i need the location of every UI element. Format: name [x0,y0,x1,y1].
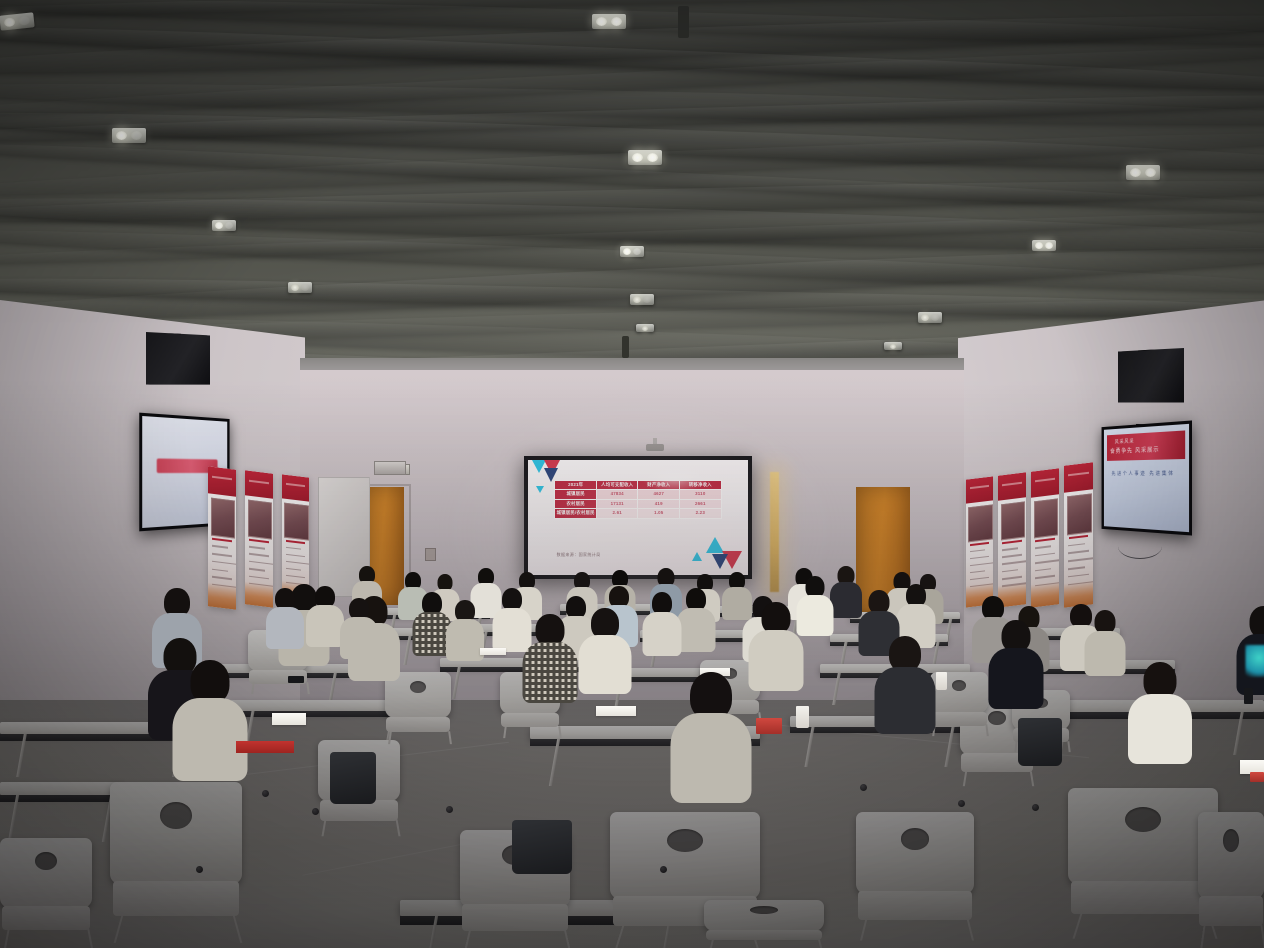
poster-image [968,505,992,543]
chair-handle-hole [901,828,929,849]
audience-member [340,598,378,662]
mobile-phone [1244,688,1253,704]
left-wall-speaker [146,329,210,392]
right-poster-1 [966,476,993,607]
chair-back [856,812,974,894]
triangle-cyan-small-icon [536,486,544,493]
ac-vent [374,461,406,475]
person-torso [446,619,484,661]
table-row: 农村居民 17131 419 2661 [555,499,721,509]
poster-text-line [249,553,269,557]
table-col-1: 人均可支配收入 [596,480,638,490]
chair-seat [1071,881,1215,914]
poster-divider [1069,535,1089,539]
ceiling-spotlight [918,312,942,323]
poster-text-line [1068,543,1085,547]
chair-seat [386,717,449,733]
audience-member [670,672,751,810]
ceiling-spotlight [288,282,312,293]
poster-footer-gradient [1031,581,1059,608]
poster-text-line [212,545,228,549]
slide-content: 2021年 人均可支配收入 财产净收入 转移净收入 城镇居民 47834 462… [528,460,748,575]
table-col-0: 2021年 [555,480,597,490]
table-row: 城镇居民 47834 4627 3110 [555,490,721,500]
poster-text-line [286,561,309,565]
projection-screen[interactable]: 2021年 人均可支配收入 财产净收入 转移净收入 城镇居民 47834 462… [524,456,752,579]
right-tv-headline-small: 风采风采 [1115,438,1135,446]
caster-wheel [262,790,269,797]
projector-mount [646,444,664,451]
poster-text-line [1035,552,1055,556]
poster-text-line [1002,547,1018,551]
chair-handle-hole [988,711,1006,725]
chair-seat [2,906,90,930]
chair[interactable] [1198,812,1264,948]
chair-back [610,812,760,899]
left-poster-1 [208,466,236,609]
poster-divider [249,539,268,543]
chair-seat [462,904,568,930]
chair-legs [933,725,990,736]
poster-header-band [966,476,993,504]
ceiling-spotlight [112,128,146,143]
chair-back [704,900,824,931]
person-torso [642,612,681,656]
poster-text-line [970,570,986,574]
poster-image [1034,498,1059,538]
poster-text-line [970,562,993,566]
row-value: 2.23 [680,509,722,519]
table-header-row: 2021年 人均可支配收入 财产净收入 转移净收入 [555,480,721,490]
row-value: 2661 [680,499,722,509]
poster-image [284,503,308,541]
chair-handle-hole [1223,829,1239,852]
chair-handle-hole [952,680,966,691]
poster-text-line [249,546,265,550]
table-row: 城镇居民/农村居民 2.61 1.05 2.23 [555,509,721,519]
ceiling-spotlight [884,342,902,350]
row-value: 47834 [596,490,638,500]
triangle-navy-icon [712,554,728,569]
chair-legs [251,683,309,694]
paper-sheet [480,648,506,655]
poster-text-line [1002,561,1026,566]
wall-outlet[interactable] [425,548,436,561]
row-label: 农村居民 [555,499,597,509]
table-top [0,782,120,795]
poster-text-line [1002,569,1018,573]
right-tv-headline-large: 奋勇争先 风采展示 [1110,445,1159,456]
ceiling-spotlight [620,246,644,257]
chair-legs [3,929,92,948]
poster-header-band [208,466,236,496]
chair-handle-hole [410,681,426,693]
poster-text-line [249,568,265,572]
poster-text-line [1035,575,1055,579]
row-value: 419 [638,499,680,509]
right-wall-speaker [1118,345,1184,410]
audience-member [578,608,631,698]
chair[interactable] [0,838,92,948]
poster-text-line [970,556,989,560]
poster-text-line [1035,545,1051,549]
chair-legs [321,819,400,836]
poster-divider [970,542,988,546]
drink-cup [936,672,947,690]
chair-legs [388,731,452,744]
chair-seat [858,891,971,919]
poster-text-line [1035,559,1059,564]
poster-header-band [1031,468,1059,497]
right-poster-2 [998,472,1026,607]
caster-wheel [958,800,965,807]
drink-cup [796,706,809,728]
slide-source-note: 数据来源：国家统计局 [557,552,601,558]
row-label: 城镇居民/农村居民 [555,509,597,519]
table-col-3: 转移净收入 [680,480,722,490]
poster-text-line [1068,566,1085,570]
ceiling-spotlight [1032,240,1056,251]
chair-legs [503,726,561,738]
poster-divider [1002,540,1021,544]
chair-back [1198,812,1264,899]
row-value: 2.61 [596,509,638,519]
ceiling-spotlight [630,294,654,305]
person-torso [1128,694,1192,764]
poster-text-line [249,560,273,565]
person-torso [522,642,577,703]
person-torso [1084,631,1125,676]
chair-back [1068,788,1218,884]
mobile-phone [288,676,304,683]
row-label: 城镇居民 [555,490,597,500]
poster-text-line [1002,554,1022,558]
poster-header-band [245,470,273,499]
audience-member [676,588,715,655]
desk-item [1250,772,1264,782]
right-tv-subline: 先进个人事迹 先进集体 [1112,469,1175,476]
person-torso [266,607,304,649]
person-torso [578,635,631,694]
table-edge [230,711,410,717]
caster-wheel [446,806,453,813]
audience-member [172,660,247,787]
poster-footer-gradient [208,582,236,609]
poster-text-line [1035,568,1051,572]
row-value: 4627 [638,490,680,500]
audience-member [988,620,1043,713]
poster-text-line [970,549,986,553]
poster-header-band [998,472,1026,501]
chair-legs [1072,912,1217,939]
ceiling-spotlight [636,324,654,332]
chair-handle-hole [35,852,57,870]
poster-image [1067,494,1093,536]
audience-member [642,592,681,659]
person-torso [1236,634,1264,695]
person-torso [670,713,751,803]
chair[interactable] [704,900,824,948]
caster-wheel [860,784,867,791]
poster-text-line [212,576,232,580]
poster-divider [1035,538,1054,542]
audience-member [874,636,935,739]
poster-text-line [212,553,232,557]
poster-text-line [212,561,236,566]
poster-divider [286,540,304,544]
paper-sheet [596,706,636,716]
audience-member [1236,606,1264,699]
poster-text-line [286,575,305,579]
right-poster-4 [1064,462,1093,608]
chair[interactable] [1068,788,1218,938]
ceiling-spotlight [212,220,236,231]
table-col-2: 财产净收入 [638,480,680,490]
person-torso [676,608,715,652]
chair-handle-hole [750,906,779,914]
row-value: 1.05 [638,509,680,519]
ceiling-spotlight [628,150,662,165]
poster-header-band [1064,462,1093,493]
row-value: 17131 [596,499,638,509]
audience-member [266,588,304,652]
audience-member [446,600,484,664]
poster-image [1001,501,1026,540]
caster-wheel [660,866,667,873]
audience-member [522,614,577,707]
poster-text-line [970,577,989,581]
slide-data-table: 2021年 人均可支配收入 财产净收入 转移净收入 城镇居民 47834 462… [554,480,721,519]
person-torso [340,617,378,659]
person-torso [172,698,247,781]
right-wall-tv[interactable]: 风采风采 奋勇争先 风采展示 先进个人事迹 先进集体 [1102,420,1192,535]
audience-member [1128,662,1192,769]
chair-back [0,838,92,908]
person-torso [988,648,1043,709]
ceiling-pipe [622,336,629,358]
chair-seat [1199,896,1262,926]
caster-wheel [196,866,203,873]
right-tv-screen: 风采风采 奋勇争先 风采展示 先进个人事迹 先进集体 [1104,424,1189,532]
poster-divider [212,538,231,542]
poster-header-band [282,474,309,502]
person-torso [874,667,935,734]
paper-sheet [272,713,306,725]
poster-text-line [1002,576,1022,580]
poster-text-line [286,546,302,550]
chair-handle-hole [160,802,192,829]
caster-wheel [1032,804,1039,811]
backpack [1018,718,1062,766]
backpack [330,752,376,804]
chair-legs [464,929,570,948]
chair-legs [114,914,243,943]
chair-legs [860,918,974,941]
chair[interactable] [856,812,974,940]
ceiling-spotlight [1126,165,1160,180]
amber-light-strip [770,472,779,592]
poster-text-line [286,568,302,572]
poster-text-line [212,568,228,572]
lecture-hall-photo: 风采风采 奋勇争先 风采展示 先进个人事迹 先进集体 [0,0,1264,948]
ceiling-pipe [678,6,689,38]
desk-item [756,718,782,734]
audience-member [306,586,344,650]
row-value: 3110 [680,490,722,500]
poster-text-line [1068,550,1089,554]
chair-handle-hole [667,829,703,852]
chair[interactable] [110,782,242,942]
tv-cables [1118,534,1162,559]
ceiling-spotlight [592,14,626,29]
caster-wheel [312,808,319,815]
chair-handle-hole [1125,807,1161,832]
table-top [230,700,410,711]
backpack [512,820,572,874]
poster-text-line [1068,557,1093,562]
poster-text-line [1068,574,1089,578]
chair-legs [1200,924,1264,948]
chair-legs [963,771,1035,786]
poster-text-line [249,575,269,579]
chair-seat [113,881,240,916]
right-poster-3 [1031,468,1059,607]
triangle-cyan-small-icon [692,552,702,561]
audience-member [1084,610,1125,679]
poster-image [211,497,236,538]
chair-back [110,782,242,884]
poster-image [248,500,273,540]
poster-text-line [286,553,305,557]
person-torso [306,605,344,647]
chair-legs [710,940,822,948]
audience-member [748,602,803,695]
person-torso [748,630,803,691]
red-notebook [236,741,294,753]
